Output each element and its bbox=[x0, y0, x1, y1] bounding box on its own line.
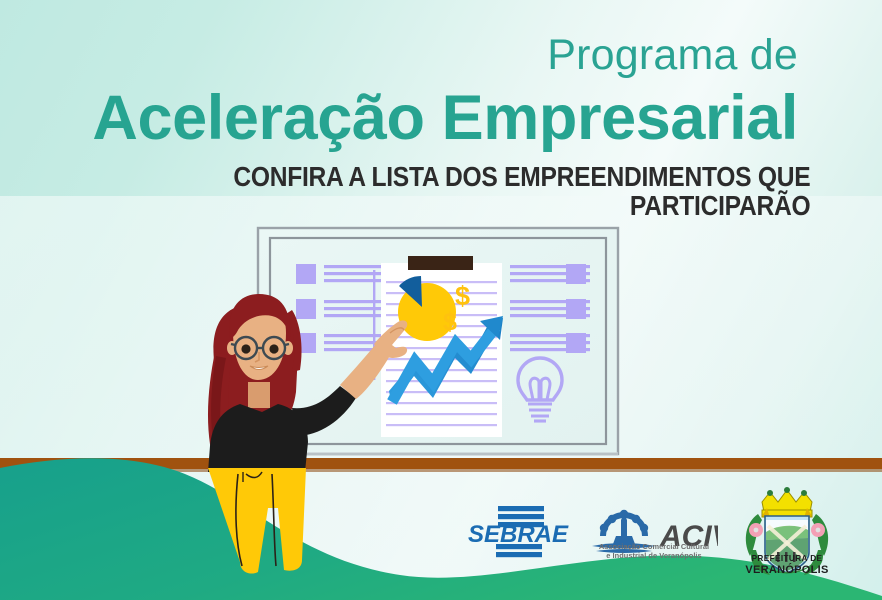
page-title: Aceleração Empresarial bbox=[0, 77, 798, 150]
sebrae-wordmark: SEBRAE bbox=[468, 521, 569, 548]
logo-bar: SEBRAE ACIV bbox=[440, 480, 855, 590]
sebrae-logo: SEBRAE bbox=[458, 504, 578, 564]
headline-block: Programa de Aceleração Empresarial bbox=[0, 0, 882, 150]
prefeitura-caption-line1: PREFEITURA DE bbox=[732, 554, 842, 564]
aciv-caption-line2: e Industrial de Veranópolis bbox=[584, 551, 724, 560]
crown-icon bbox=[762, 487, 812, 517]
prefeitura-caption-line2: VERANÓPOLIS bbox=[732, 564, 842, 576]
prefeitura-caption: PREFEITURA DE VERANÓPOLIS bbox=[732, 554, 842, 576]
svg-text:$: $ bbox=[443, 308, 457, 336]
aciv-caption: Associação Comercial Cultural e Industri… bbox=[584, 542, 724, 561]
svg-text:$: $ bbox=[455, 281, 470, 311]
subtitle-text: CONFIRA A LISTA DOS EMPREENDIMENTOS QUE … bbox=[93, 163, 882, 221]
clipboard-clip bbox=[408, 256, 473, 270]
poster-canvas: $ $ bbox=[0, 0, 882, 600]
aciv-caption-line1: Associação Comercial Cultural bbox=[584, 542, 724, 551]
kicker-text: Programa de bbox=[0, 0, 798, 77]
